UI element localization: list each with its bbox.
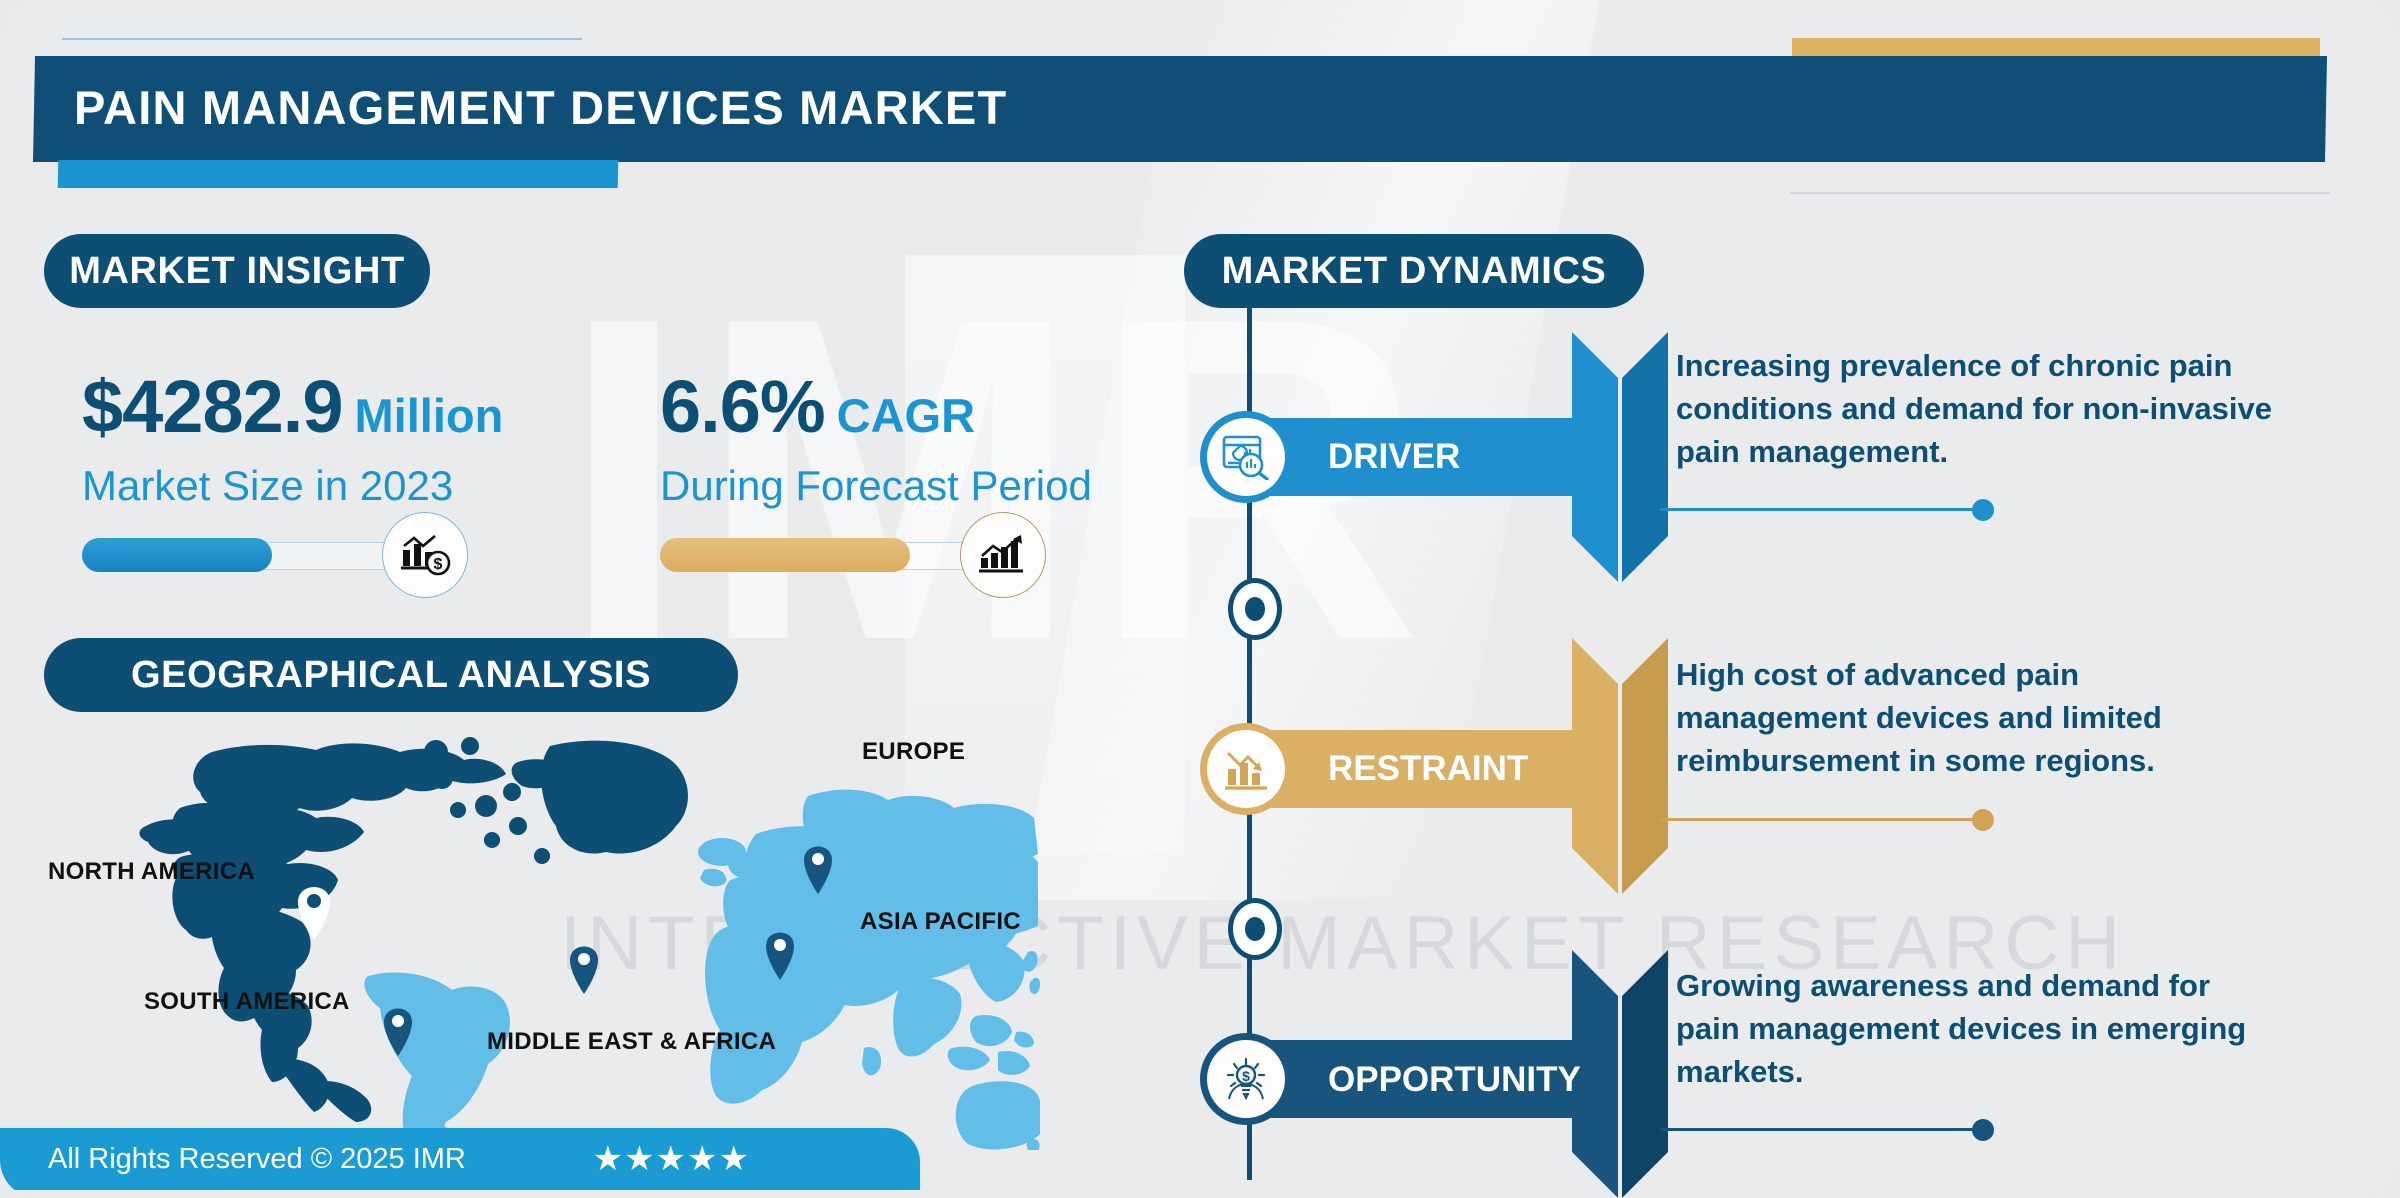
progress-fill [82, 538, 272, 572]
infographic-page: IMR INTROSPECTIVE MARKET RESEARCH PAIN M… [0, 0, 2400, 1198]
map-label-south-america: SOUTH AMERICA [144, 988, 350, 1016]
bar-chart-dollar-icon: $ [382, 512, 468, 598]
lightbulb-dollar-icon: $ [1200, 1033, 1292, 1125]
region-africa [705, 919, 898, 1104]
stat-cagr: 6.6%CAGR During Forecast Period [660, 370, 1092, 574]
progress-fill [660, 538, 910, 572]
market-size-value: $4282.9 [82, 365, 343, 448]
restraint-description: High cost of advanced pain management de… [1676, 654, 2276, 782]
opportunity-endpoint-dot [1972, 1119, 1994, 1141]
map-label-asia-pacific: ASIA PACIFIC [860, 908, 1021, 936]
driver-rule [1660, 508, 1982, 511]
market-dynamics-pill: MARKET DYNAMICS [1184, 234, 1644, 308]
dashboard-magnifier-icon [1200, 411, 1292, 503]
rating-stars: ★★★★★ [593, 1139, 750, 1179]
declining-bar-chart-icon [1200, 723, 1292, 815]
copyright-text: All Rights Reserved © 2025 IMR [48, 1143, 466, 1176]
market-size-progress: $ [82, 536, 442, 574]
svg-text:$: $ [434, 556, 443, 573]
restraint-chevron [1572, 638, 1668, 894]
driver-label: DRIVER [1328, 437, 1460, 477]
driver-chevron [1572, 332, 1668, 582]
world-map [120, 730, 1040, 1150]
timeline-node [1228, 898, 1282, 960]
opportunity-rule [1660, 1128, 1982, 1131]
map-pin-middle-east-africa [570, 947, 598, 995]
market-size-subtitle: Market Size in 2023 [82, 462, 503, 510]
market-insight-pill: MARKET INSIGHT [44, 234, 430, 308]
header-rule-left [62, 38, 582, 40]
stat-market-size: $4282.9Million Market Size in 2023 $ [82, 370, 503, 574]
region-south-america [364, 972, 510, 1145]
cagr-unit: CAGR [837, 389, 975, 442]
timeline-node [1228, 578, 1282, 640]
driver-description: Increasing prevalence of chronic pain co… [1676, 345, 2276, 473]
map-label-europe: EUROPE [862, 738, 965, 766]
header-underline-accent [58, 160, 619, 188]
driver-endpoint-dot [1972, 499, 1994, 521]
opportunity-description: Growing awareness and demand for pain ma… [1676, 965, 2276, 1093]
growth-arrow-chart-icon [960, 512, 1046, 598]
header-rule-right [1790, 192, 2330, 194]
svg-text:$: $ [1242, 1068, 1250, 1084]
cagr-progress [660, 536, 1020, 574]
world-map-svg [120, 730, 1040, 1150]
geographical-analysis-pill: GEOGRAPHICAL ANALYSIS [44, 638, 738, 712]
restraint-label: RESTRAINT [1328, 749, 1528, 789]
footer-bar: All Rights Reserved © 2025 IMR ★★★★★ [0, 1128, 920, 1190]
restraint-rule [1660, 818, 1982, 821]
opportunity-label: OPPORTUNITY [1328, 1060, 1581, 1100]
market-size-unit: Million [355, 389, 504, 442]
page-title: PAIN MANAGEMENT DEVICES MARKET [74, 80, 1007, 135]
opportunity-chevron [1572, 950, 1668, 1198]
cagr-subtitle: During Forecast Period [660, 462, 1092, 510]
map-label-middle-east-africa: MIDDLE EAST & AFRICA [487, 1028, 776, 1056]
restraint-endpoint-dot [1972, 809, 1994, 831]
cagr-value: 6.6% [660, 365, 825, 448]
map-label-north-america: NORTH AMERICA [48, 858, 255, 886]
